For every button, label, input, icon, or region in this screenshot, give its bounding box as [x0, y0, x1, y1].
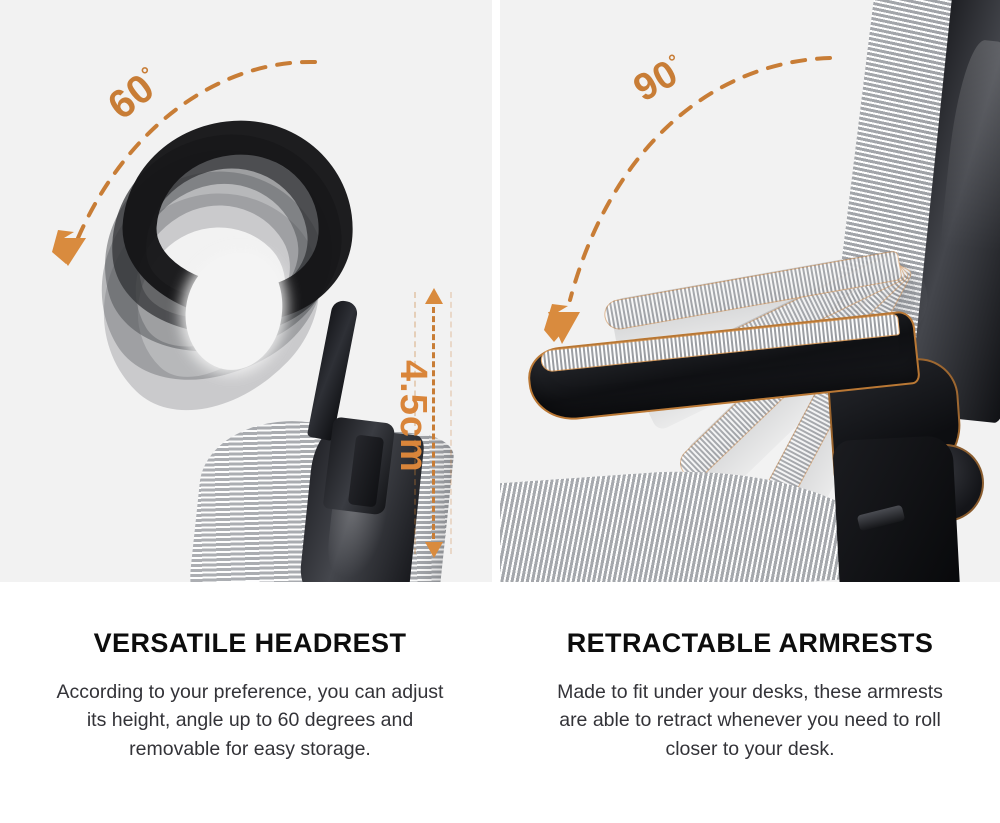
- caption-row: VERSATILE HEADREST According to your pre…: [0, 582, 1000, 823]
- measure-label-45cm: 4.5cm: [391, 360, 434, 473]
- caption-armrests-body: Made to fit under your desks, these armr…: [545, 678, 955, 763]
- angle-arc-90-svg: [500, 0, 1000, 582]
- caption-headrest-body: According to your preference, you can ad…: [50, 678, 450, 763]
- caption-armrests: RETRACTABLE ARMRESTS Made to fit under y…: [500, 582, 1000, 823]
- headrest-image-panel: 60° 4.5cm: [0, 0, 492, 582]
- measure-guide-right: [450, 292, 452, 554]
- feature-panels: 60° 4.5cm: [0, 0, 1000, 582]
- headrest-photo: 60° 4.5cm: [0, 0, 492, 582]
- caption-headrest: VERSATILE HEADREST According to your pre…: [0, 582, 500, 823]
- measure-arrowhead-down: [425, 542, 443, 558]
- height-measurement-45cm: 4.5cm: [404, 292, 474, 554]
- armrest-image-panel: 90°: [500, 0, 1000, 582]
- angle-arc-90-path: [570, 58, 830, 300]
- caption-headrest-title: VERSATILE HEADREST: [0, 628, 500, 659]
- armrest-photo: 90°: [500, 0, 1000, 582]
- infographic-page: { "theme": { "accent": "#c87d36", "accen…: [0, 0, 1000, 823]
- caption-armrests-title: RETRACTABLE ARMRESTS: [500, 628, 1000, 659]
- measure-arrowhead-up: [425, 288, 443, 304]
- panel-divider: [492, 0, 500, 582]
